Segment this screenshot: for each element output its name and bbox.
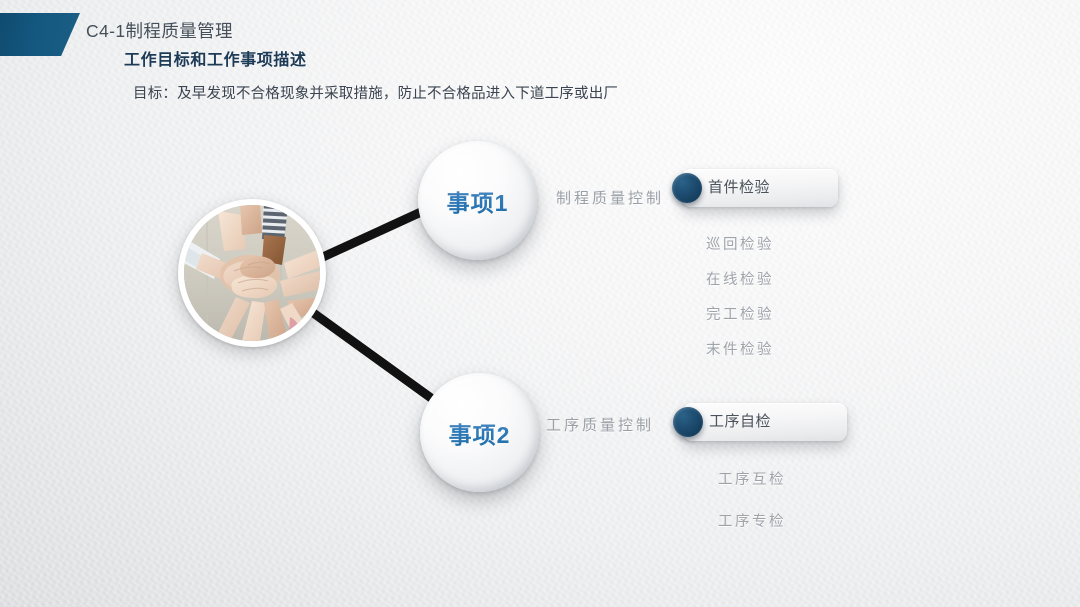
branch-circle-1-label: 事项1	[447, 184, 509, 218]
branch-caption-2: 工序质量控制	[546, 414, 654, 435]
team-photo-circle	[178, 199, 326, 347]
branch-circle-2[interactable]: 事项2	[420, 373, 539, 492]
list-item[interactable]: 在线检验	[706, 268, 774, 289]
header-banner-shape	[0, 13, 80, 56]
branch-1-pill[interactable]: 首件检验	[682, 169, 838, 207]
bullet-dot-icon	[672, 173, 702, 203]
page-subtitle: 工作目标和工作事项描述	[124, 46, 307, 70]
goal-statement: 目标：及早发现不合格现象并采取措施，防止不合格品进入下道工序或出厂	[133, 82, 618, 103]
team-photo-image	[184, 205, 320, 341]
branch-2-pill-label: 工序自检	[709, 403, 771, 441]
page-title: C4-1制程质量管理	[86, 18, 233, 43]
branch-circle-2-label: 事项2	[449, 416, 511, 450]
list-item[interactable]: 巡回检验	[706, 233, 774, 254]
branch-1-pill-label: 首件检验	[708, 169, 770, 207]
list-item[interactable]: 末件检验	[706, 338, 774, 359]
branch-caption-1: 制程质量控制	[556, 187, 664, 208]
list-item[interactable]: 完工检验	[706, 303, 774, 324]
branch-circle-1[interactable]: 事项1	[418, 141, 537, 260]
list-item[interactable]: 工序互检	[718, 468, 786, 489]
slide-canvas: C4-1制程质量管理 工作目标和工作事项描述 目标：及早发现不合格现象并采取措施…	[0, 0, 1080, 607]
branch-2-pill[interactable]: 工序自检	[683, 403, 847, 441]
list-item[interactable]: 工序专检	[718, 510, 786, 531]
bullet-dot-icon	[673, 407, 703, 437]
